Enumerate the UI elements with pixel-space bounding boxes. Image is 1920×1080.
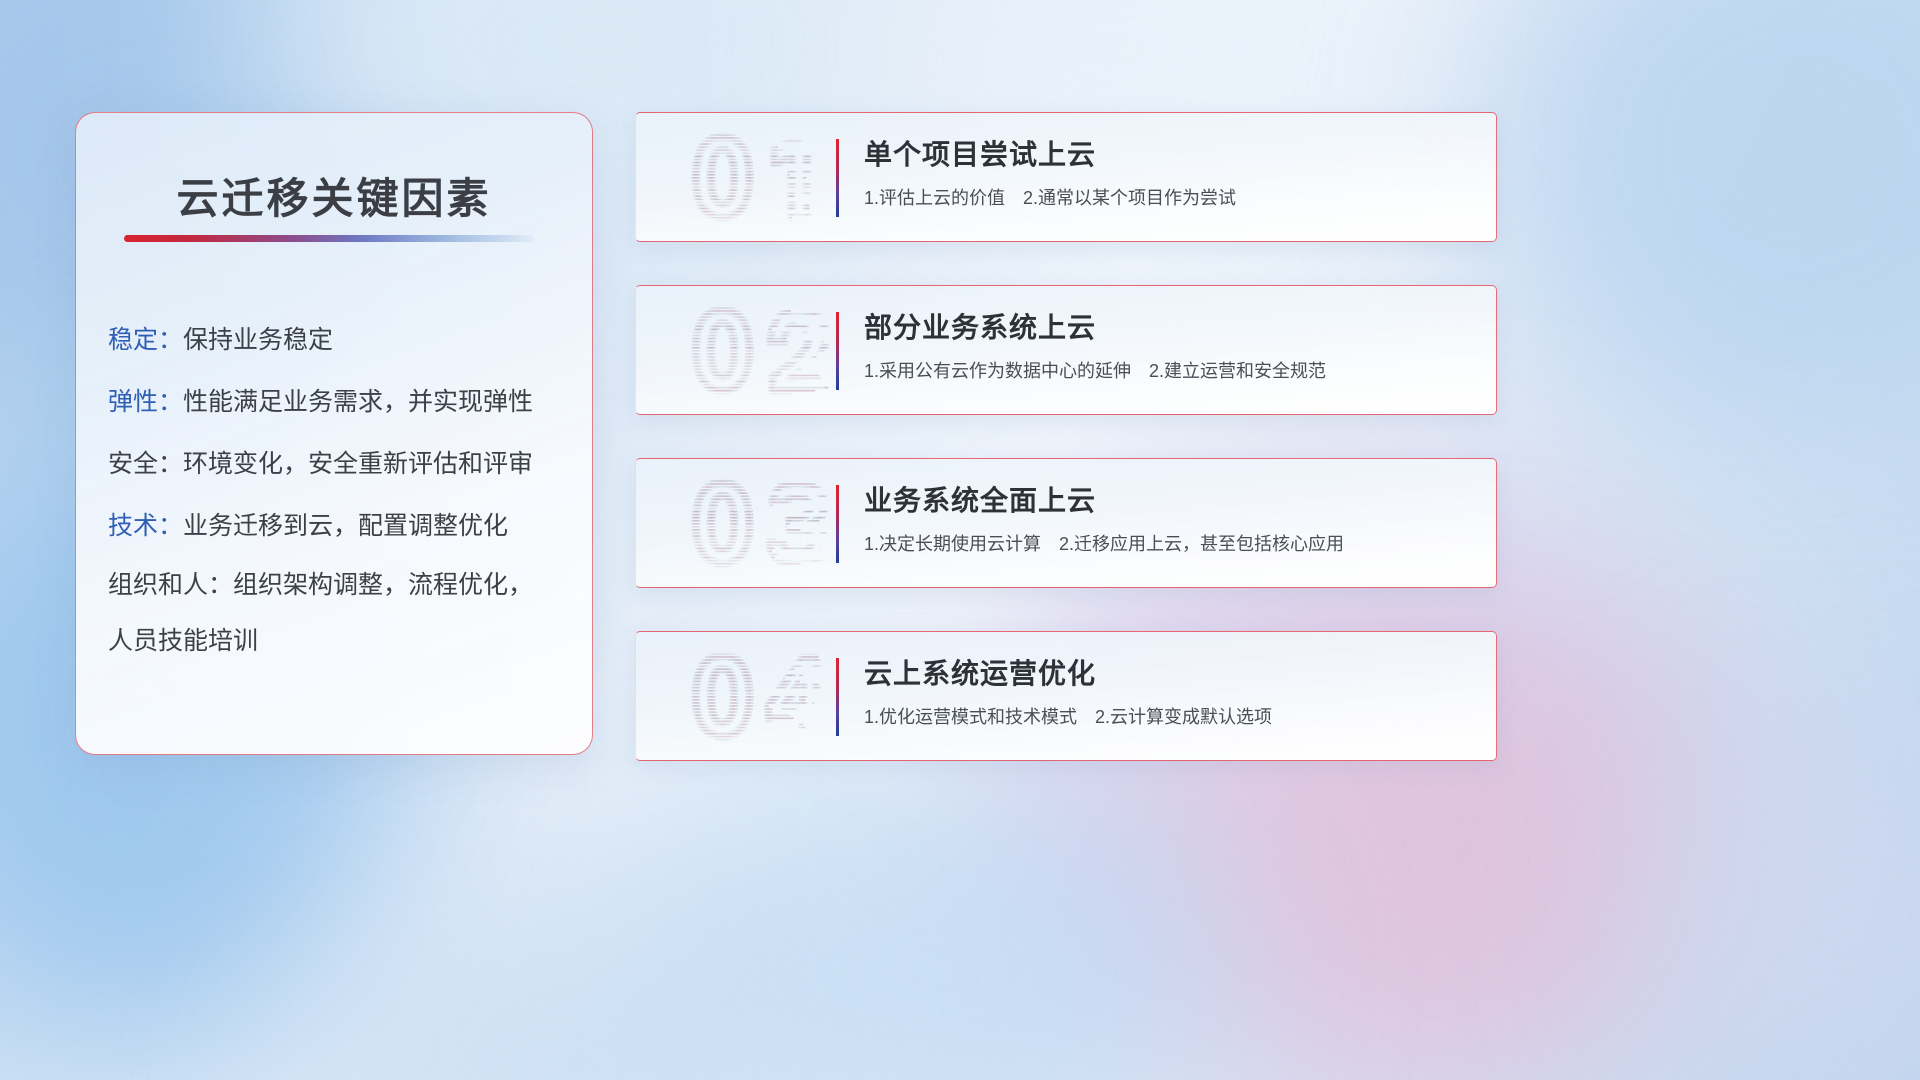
stage-card-list: 单个项目尝试上云1.评估上云的价值 2.通常以某个项目作为尝试部分业务系统上云1… [635, 112, 1497, 761]
stage-card-body: 单个项目尝试上云1.评估上云的价值 2.通常以某个项目作为尝试 [864, 135, 1470, 211]
stage-card-detail: 1.评估上云的价值 2.通常以某个项目作为尝试 [864, 185, 1470, 211]
accent-bar [836, 485, 839, 563]
stage-card-body: 部分业务系统上云1.采用公有云作为数据中心的延伸 2.建立运营和安全规范 [864, 308, 1470, 384]
stage-card-detail: 1.优化运营模式和技术模式 2.云计算变成默认选项 [864, 704, 1470, 730]
key-factor-text: 环境变化，安全重新评估和评审 [183, 450, 533, 478]
stage-card-detail: 1.采用公有云作为数据中心的延伸 2.建立运营和安全规范 [864, 358, 1470, 384]
stage-number-watermark [664, 304, 854, 396]
key-factor-text: 性能满足业务需求，并实现弹性 [183, 388, 533, 416]
accent-bar [836, 658, 839, 736]
stage-number-watermark [664, 131, 854, 223]
stage-card[interactable]: 业务系统全面上云1.决定长期使用云计算 2.迁移应用上云，甚至包括核心应用 [635, 458, 1497, 588]
key-factor-label: 安全： [108, 450, 183, 478]
stage-card[interactable]: 单个项目尝试上云1.评估上云的价值 2.通常以某个项目作为尝试 [635, 112, 1497, 242]
stage-card[interactable]: 部分业务系统上云1.采用公有云作为数据中心的延伸 2.建立运营和安全规范 [635, 285, 1497, 415]
key-factor-row: 技术：业务迁移到云，配置调整优化 [108, 495, 572, 557]
key-factor-text: 保持业务稳定 [183, 326, 333, 354]
accent-bar [836, 312, 839, 390]
key-factors-list: 稳定：保持业务稳定弹性：性能满足业务需求，并实现弹性安全：环境变化，安全重新评估… [108, 309, 572, 669]
stage-number-watermark [664, 477, 854, 569]
stage-number-watermark [664, 650, 854, 742]
stage-card-title: 部分业务系统上云 [864, 308, 1470, 348]
key-factor-text: 组织架构调整，流程优化， [233, 571, 533, 599]
stage-card-title: 单个项目尝试上云 [864, 135, 1470, 175]
key-factor-row: 稳定：保持业务稳定 [108, 309, 572, 371]
key-factor-label: 技术： [108, 512, 183, 540]
stage-card-body: 业务系统全面上云1.决定长期使用云计算 2.迁移应用上云，甚至包括核心应用 [864, 481, 1470, 557]
key-factor-row: 人员技能培训 [108, 613, 572, 669]
stage-card-detail: 1.决定长期使用云计算 2.迁移应用上云，甚至包括核心应用 [864, 531, 1470, 557]
key-factor-label: 组织和人： [108, 571, 233, 599]
page-title: 云迁移关键因素 [76, 165, 592, 226]
key-factor-label: 弹性： [108, 388, 183, 416]
key-factor-text: 业务迁移到云，配置调整优化 [183, 512, 508, 540]
title-underline-bar [124, 235, 534, 242]
stage-card[interactable]: 云上系统运营优化1.优化运营模式和技术模式 2.云计算变成默认选项 [635, 631, 1497, 761]
key-factor-text: 人员技能培训 [108, 627, 258, 655]
stage-card-body: 云上系统运营优化1.优化运营模式和技术模式 2.云计算变成默认选项 [864, 654, 1470, 730]
key-factors-panel: 云迁移关键因素 稳定：保持业务稳定弹性：性能满足业务需求，并实现弹性安全：环境变… [75, 112, 593, 755]
key-factor-row: 安全：环境变化，安全重新评估和评审 [108, 433, 572, 495]
key-factor-row: 组织和人：组织架构调整，流程优化， [108, 557, 572, 613]
stage-card-title: 云上系统运营优化 [864, 654, 1470, 694]
stage-card-title: 业务系统全面上云 [864, 481, 1470, 521]
key-factor-label: 稳定： [108, 326, 183, 354]
key-factor-row: 弹性：性能满足业务需求，并实现弹性 [108, 371, 572, 433]
accent-bar [836, 139, 839, 217]
